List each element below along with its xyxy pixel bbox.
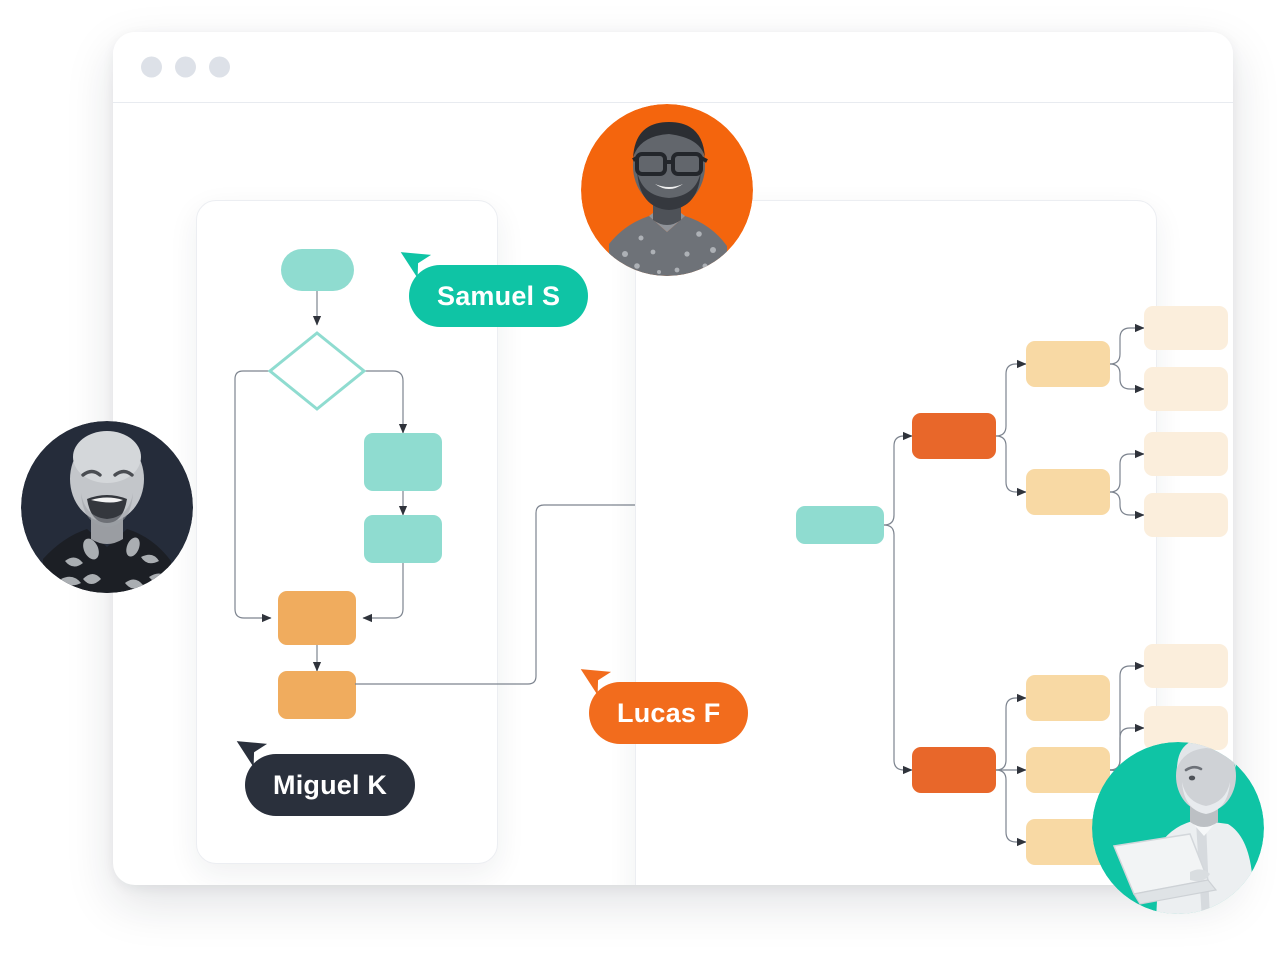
avatar-miguel[interactable] — [21, 421, 193, 593]
node-upper-leaf-1[interactable] — [1144, 306, 1228, 350]
avatar-photo-samuel — [581, 104, 753, 276]
avatar-samuel[interactable] — [581, 104, 753, 276]
node-lower-parent[interactable] — [912, 747, 996, 793]
edge-upper-child2-leaf3 — [1110, 454, 1144, 492]
node-merge[interactable] — [278, 591, 356, 645]
node-upper-child-1[interactable] — [1026, 341, 1110, 387]
edge-lower-parent-child-3 — [996, 770, 1026, 842]
edge-decision-left — [235, 371, 271, 618]
avatar-lucas[interactable] — [1092, 742, 1264, 914]
node-upper-leaf-3[interactable] — [1144, 432, 1228, 476]
minimize-dot[interactable] — [175, 57, 196, 78]
node-upper-leaf-2[interactable] — [1144, 367, 1228, 411]
edge-root-to-upper-parent — [884, 436, 912, 525]
node-lower-child-1[interactable] — [1026, 675, 1110, 721]
node-task-b[interactable] — [364, 515, 442, 563]
node-start[interactable] — [281, 249, 354, 291]
close-dot[interactable] — [141, 57, 162, 78]
edge-root-to-lower-parent — [884, 525, 912, 770]
edge-decision-right — [364, 371, 403, 433]
edge-upper-parent-child-1 — [996, 364, 1026, 436]
edge-upper-child1-leaf2 — [1110, 364, 1144, 389]
cursor-label-lucas[interactable]: Lucas F — [589, 682, 748, 744]
edge-upper-parent-child-2 — [996, 436, 1026, 492]
node-tree-root[interactable] — [796, 506, 884, 544]
cursor-name-lucas: Lucas F — [617, 698, 720, 729]
cursor-name-miguel: Miguel K — [273, 770, 387, 801]
node-upper-leaf-4[interactable] — [1144, 493, 1228, 537]
maximize-dot[interactable] — [209, 57, 230, 78]
cursor-label-miguel[interactable]: Miguel K — [245, 754, 415, 816]
node-decision[interactable] — [270, 333, 364, 409]
edge-upper-child1-leaf1 — [1110, 328, 1144, 364]
node-upper-child-2[interactable] — [1026, 469, 1110, 515]
edge-lower-parent-child-1 — [996, 698, 1026, 770]
avatar-photo-lucas — [1092, 742, 1264, 914]
edge-upper-child2-leaf4 — [1110, 492, 1144, 515]
title-bar — [113, 32, 1233, 103]
tree-panel[interactable] — [635, 200, 1157, 885]
cursor-name-samuel: Samuel S — [437, 281, 560, 312]
cursor-label-samuel[interactable]: Samuel S — [409, 265, 588, 327]
window-controls — [141, 57, 230, 78]
node-end[interactable] — [278, 671, 356, 719]
node-lower-leaf-1[interactable] — [1144, 644, 1228, 688]
node-upper-parent[interactable] — [912, 413, 996, 459]
avatar-photo-miguel — [21, 421, 193, 593]
edge-task-b-to-merge — [363, 563, 403, 618]
tree-graphic — [636, 201, 1156, 885]
node-task-a[interactable] — [364, 433, 442, 491]
